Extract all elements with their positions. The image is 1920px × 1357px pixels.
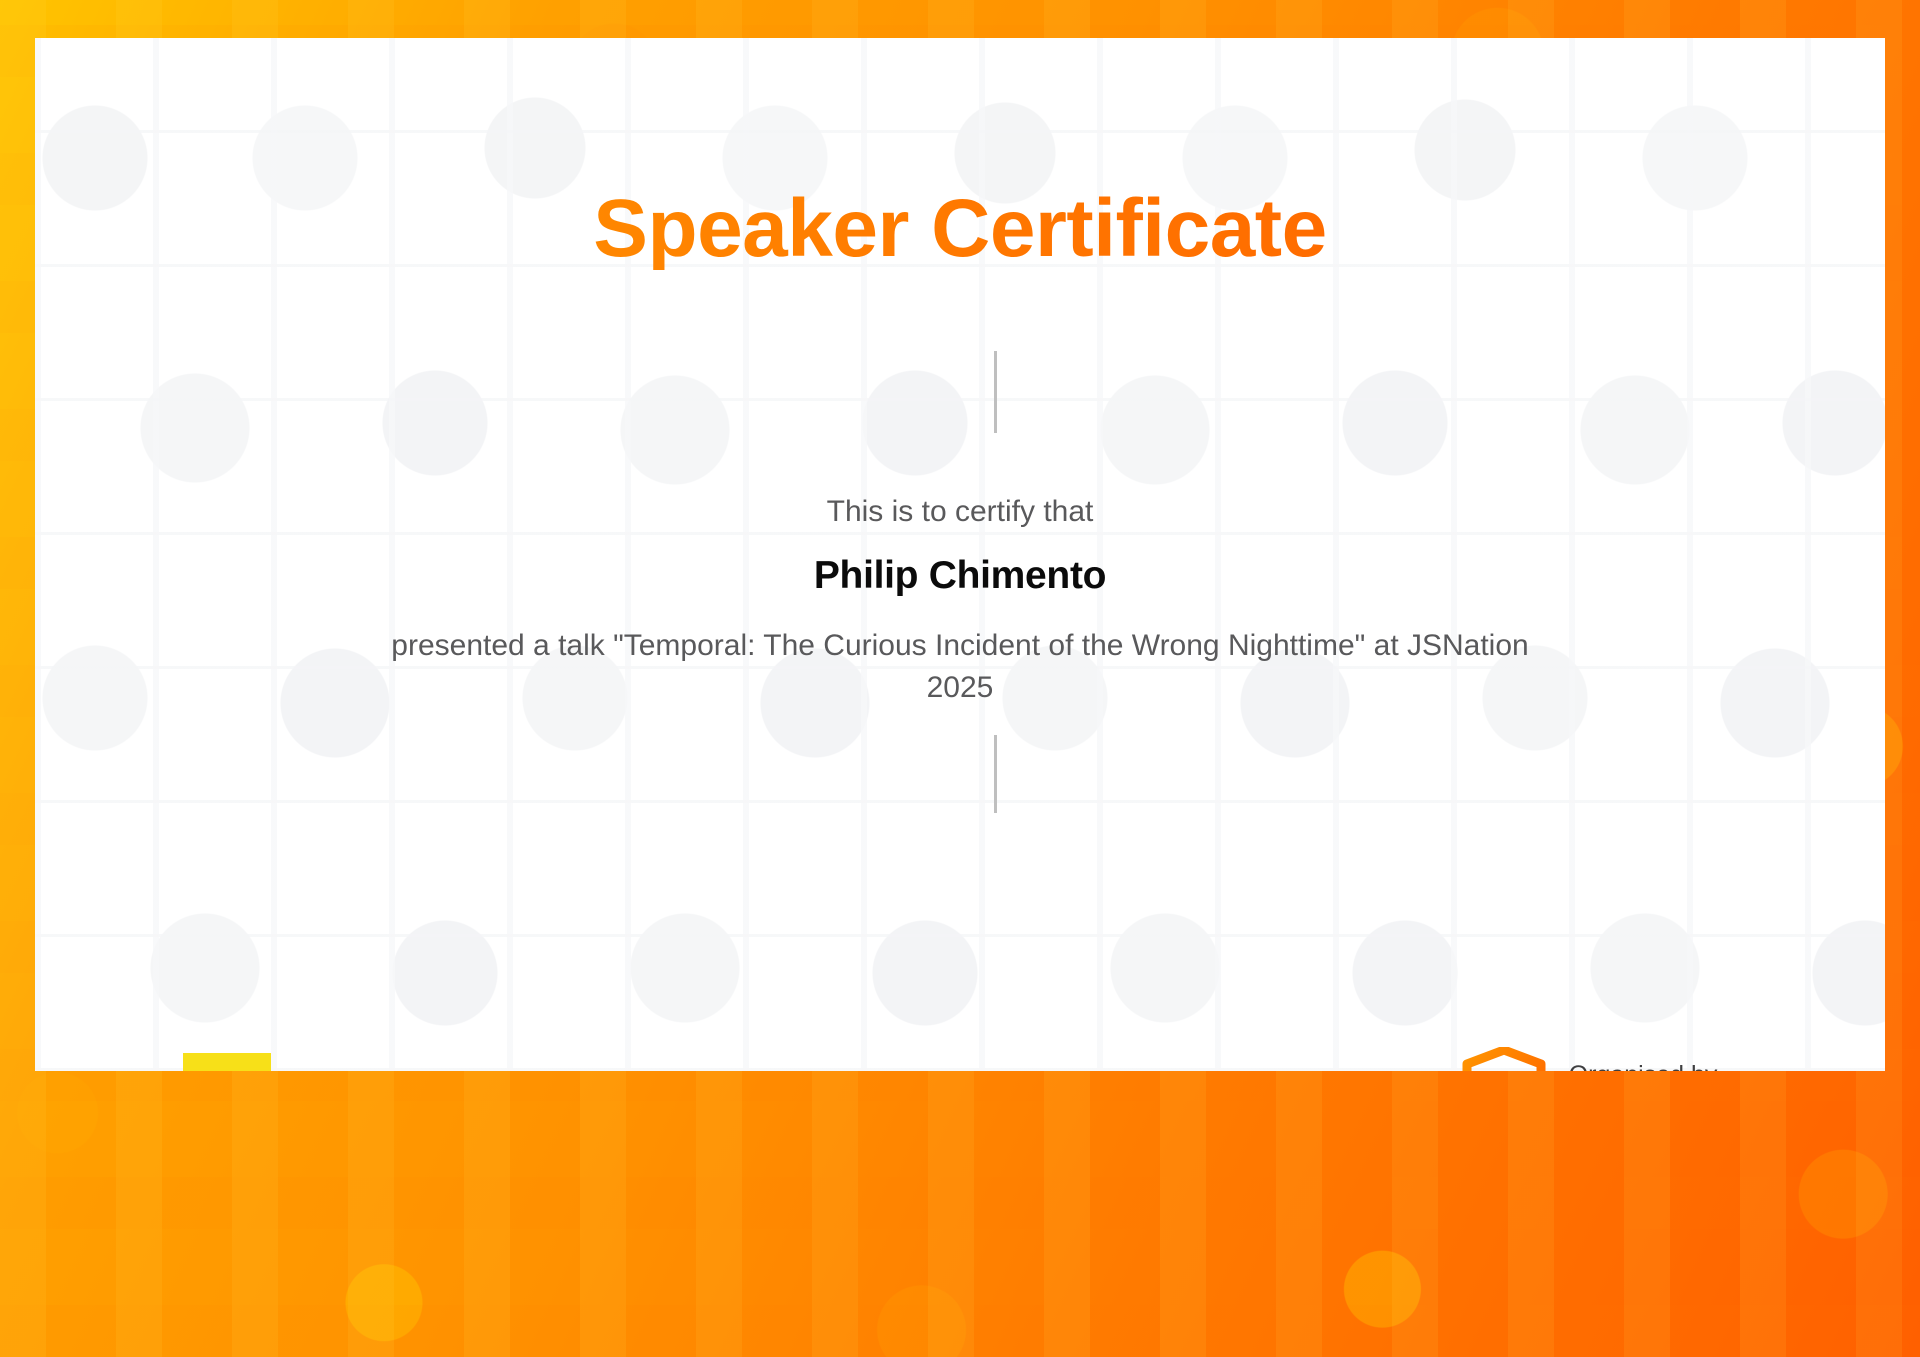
certify-statement: This is to certify that [35, 493, 1885, 531]
recipient-name: Philip Chimento [35, 553, 1885, 600]
certificate-body: This is to certify that Philip Chimento … [35, 493, 1885, 708]
organised-by-label: Organised by [1569, 1062, 1737, 1071]
talk-description: presented a talk "Temporal: The Curious … [370, 625, 1550, 708]
divider-top [994, 351, 997, 433]
gitnation-shield-mask-icon [1461, 1047, 1547, 1071]
certificate-footer: JS JSNation 2025 June 12, 2025 [35, 1053, 1885, 1071]
certificate-card: Speaker Certificate This is to certify t… [35, 38, 1885, 1071]
certificate-title: Speaker Certificate [35, 188, 1885, 270]
certificate-border-frame: Speaker Certificate This is to certify t… [0, 0, 1920, 1357]
footer-organiser-block: Organised by GitNation [1461, 1047, 1737, 1071]
organiser-text-block: Organised by GitNation [1569, 1062, 1737, 1071]
divider-bottom [994, 735, 997, 813]
